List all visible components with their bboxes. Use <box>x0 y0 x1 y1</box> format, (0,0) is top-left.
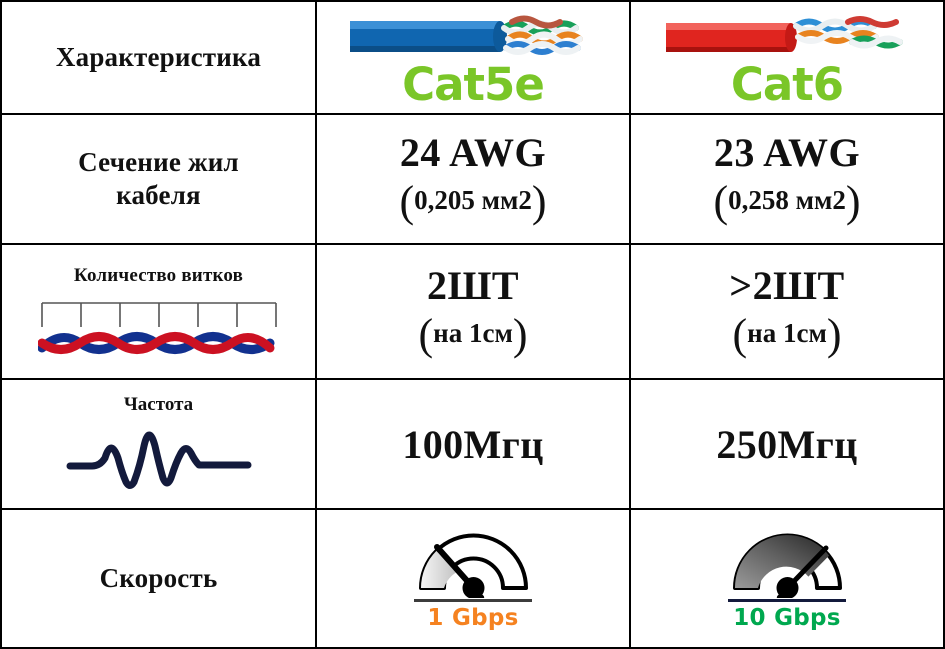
paren-close: ) <box>513 310 528 359</box>
row-label-frequency: Частота <box>1 379 316 509</box>
value-sub: (0,258 мм2) <box>631 178 943 226</box>
speed-divider <box>414 599 532 602</box>
speed-value-cat5e: 1 Gbps <box>427 605 518 631</box>
paren-close: ) <box>827 310 842 359</box>
value-main: >2ШТ <box>631 264 943 307</box>
value-main: 2ШТ <box>317 264 629 307</box>
value-main: 100Мгц <box>402 422 543 467</box>
value-main: 23 AWG <box>631 131 943 174</box>
cat5e-cat6-comparison-table: Характеристика <box>0 0 945 649</box>
header-cell-cat6: Cat6 <box>630 1 944 114</box>
table-row: Частота 100Мгц 250Мгц <box>1 379 944 509</box>
table-header-row: Характеристика <box>1 1 944 114</box>
paren-close: ) <box>846 177 861 226</box>
page-title: Характеристика <box>56 42 261 72</box>
table-row: Скорость 1 Gbp <box>1 509 944 648</box>
waveform-icon <box>64 416 254 494</box>
row-label-line1: Сечение жил <box>78 147 239 177</box>
cell-cat6-speed: 10 Gbps <box>630 509 944 648</box>
value-sub-text: 0,258 мм2 <box>728 185 846 215</box>
gauge-low-icon <box>411 526 536 598</box>
header-cell-cat5e: Cat5e <box>316 1 630 114</box>
paren-open: ( <box>399 177 414 226</box>
row-label-twists-count: Количество витков <box>1 244 316 379</box>
paren-open: ( <box>713 177 728 226</box>
value-main: 250Мгц <box>716 422 857 467</box>
cell-cat5e-speed: 1 Gbps <box>316 509 630 648</box>
speed-value-cat6: 10 Gbps <box>733 605 841 631</box>
row-label-conductor-gauge: Сечение жил кабеля <box>1 114 316 244</box>
row-label-text: Частота <box>124 394 193 416</box>
table-row: Количество витков 2ШТ (на 1см) <box>1 244 944 379</box>
column-title-cat6: Cat6 <box>731 62 843 107</box>
row-label-speed: Скорость <box>1 509 316 648</box>
value-main: 24 AWG <box>317 131 629 174</box>
value-sub: (0,205 мм2) <box>317 178 629 226</box>
cell-cat6-conductor-gauge: 23 AWG (0,258 мм2) <box>630 114 944 244</box>
row-label-text: Количество витков <box>74 264 243 287</box>
paren-open: ( <box>419 310 434 359</box>
table-row: Сечение жил кабеля 24 AWG (0,205 мм2) 23… <box>1 114 944 244</box>
paren-close: ) <box>532 177 547 226</box>
cell-cat5e-frequency: 100Мгц <box>316 379 630 509</box>
cell-cat5e-twists-count: 2ШТ (на 1см) <box>316 244 630 379</box>
value-sub: (на 1см) <box>317 311 629 359</box>
speed-divider <box>728 599 846 602</box>
paren-open: ( <box>733 310 748 359</box>
value-sub-text: на 1см <box>747 318 827 348</box>
value-sub: (на 1см) <box>631 311 943 359</box>
gauge-high-icon <box>725 526 850 598</box>
value-sub-text: 0,205 мм2 <box>414 185 532 215</box>
header-cell-feature: Характеристика <box>1 1 316 114</box>
cell-cat6-frequency: 250Мгц <box>630 379 944 509</box>
cell-cat5e-conductor-gauge: 24 AWG (0,205 мм2) <box>316 114 630 244</box>
column-title-cat5e: Cat5e <box>402 62 544 107</box>
twisted-pair-icon <box>38 297 280 359</box>
value-sub-text: на 1см <box>433 318 513 348</box>
cell-cat6-twists-count: >2ШТ (на 1см) <box>630 244 944 379</box>
row-label-line2: кабеля <box>116 180 201 210</box>
row-label-text: Скорость <box>100 563 218 593</box>
